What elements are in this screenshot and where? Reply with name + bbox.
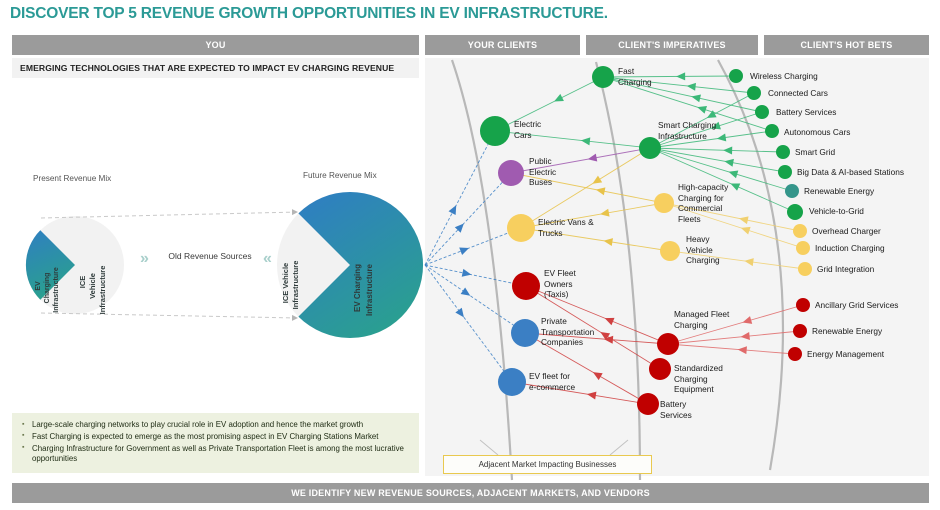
node-label-private-transport: Private Transportation Companies bbox=[541, 316, 594, 348]
node-label-induction-charging: Induction Charging bbox=[815, 243, 885, 254]
infographic-root: DISCOVER TOP 5 REVENUE GROWTH OPPORTUNIT… bbox=[0, 0, 940, 510]
node-label-standardized-charging: Standardized Charging Equipment bbox=[674, 363, 723, 395]
node-label-high-capacity-charging: High-capacity Charging for Commercial Fl… bbox=[678, 182, 728, 224]
bullet-item: Charging Infrastructure for Government a… bbox=[22, 444, 409, 465]
node-label-wireless-charging: Wireless Charging bbox=[750, 71, 818, 82]
svg-text:Charging: Charging bbox=[44, 273, 51, 304]
node-label-renewable-energy-r: Renewable Energy bbox=[812, 326, 882, 337]
node-label-fast-charging: Fast Charging bbox=[618, 66, 652, 87]
bullet-item: Large-scale charging networks to play cr… bbox=[22, 420, 409, 431]
node-label-battery-services-hb: Battery Services bbox=[776, 107, 836, 118]
node-label-grid-integration: Grid Integration bbox=[817, 264, 874, 275]
node-label-connected-cars: Connected Cars bbox=[768, 88, 828, 99]
svg-text:ICE: ICE bbox=[78, 276, 87, 289]
svg-text:Infrastructure: Infrastructure bbox=[365, 263, 374, 316]
svg-text:Vehicle: Vehicle bbox=[88, 273, 97, 299]
node-label-public-electric-buses: Public Electric Buses bbox=[529, 156, 556, 188]
node-label-ev-fleet-ecommerce: EV fleet for e-commerce bbox=[529, 371, 575, 392]
node-label-electric-cars: Electric Cars bbox=[514, 119, 541, 140]
node-label-ancillary-grid: Ancillary Grid Services bbox=[815, 300, 898, 311]
node-label-energy-management: Energy Management bbox=[807, 349, 884, 360]
node-label-vehicle-to-grid: Vehicle-to-Grid bbox=[809, 206, 864, 217]
node-label-managed-fleet-charging: Managed Fleet Charging bbox=[674, 309, 729, 330]
svg-text:Infrastructure: Infrastructure bbox=[98, 266, 107, 315]
footer-banner: WE IDENTIFY NEW REVENUE SOURCES, ADJACEN… bbox=[12, 483, 929, 503]
node-label-heavy-vehicle-charging: Heavy Vehicle Charging bbox=[686, 234, 720, 266]
svg-text:Infrastructure: Infrastructure bbox=[53, 267, 60, 313]
svg-text:ICE Vehicle: ICE Vehicle bbox=[281, 263, 290, 303]
adjacent-market-box: Adjacent Market Impacting Businesses bbox=[443, 455, 652, 474]
node-label-smart-grid: Smart Grid bbox=[795, 147, 835, 158]
node-label-renewable-energy-g: Renewable Energy bbox=[804, 186, 874, 197]
svg-text:EV Charging: EV Charging bbox=[353, 264, 362, 312]
node-label-battery-services-imp: Battery Services bbox=[660, 399, 692, 420]
svg-text:EV: EV bbox=[35, 281, 42, 291]
node-label-smart-charging-infra: Smart Charging Infrastructure bbox=[658, 120, 716, 141]
bullet-item: Fast Charging is expected to emerge as t… bbox=[22, 432, 409, 443]
key-takeaways-box: Large-scale charging networks to play cr… bbox=[12, 413, 419, 473]
node-label-ev-fleet-owners: EV Fleet Owners (Taxis) bbox=[544, 268, 576, 300]
node-label-big-data-ai: Big Data & AI-based Stations bbox=[797, 167, 904, 178]
node-label-overhead-charger: Overhead Charger bbox=[812, 226, 881, 237]
svg-text:Infrastructure: Infrastructure bbox=[291, 261, 300, 310]
node-label-autonomous-cars: Autonomous Cars bbox=[784, 127, 850, 138]
node-label-electric-vans-trucks: Electric Vans & Trucks bbox=[538, 217, 594, 238]
